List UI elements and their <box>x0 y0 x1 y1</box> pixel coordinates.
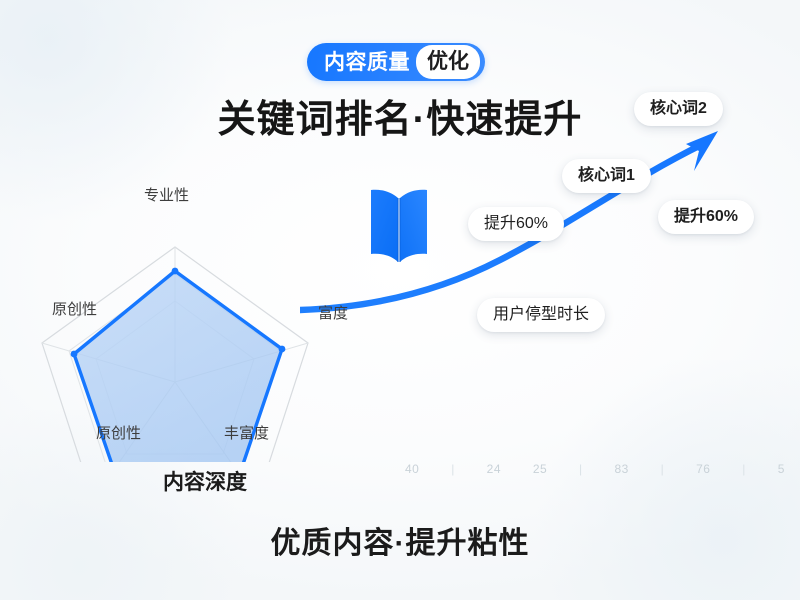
scale-item: 83 <box>614 462 628 476</box>
callout-user-dwell-time[interactable]: 用户停型时长 <box>477 298 605 332</box>
callout-increase-60-left[interactable]: 提升60% <box>468 207 564 241</box>
callout-core-keyword-2[interactable]: 核心词2 <box>634 92 723 126</box>
badge-main-label: 内容质量 <box>324 52 416 73</box>
scale-item: 25 <box>533 462 547 476</box>
scale-item: | <box>451 462 455 476</box>
poster-canvas: 内容质量 优化 关键词排名·快速提升 <box>0 0 800 600</box>
scale-item: | <box>579 462 583 476</box>
scale-item: 24 <box>487 462 501 476</box>
radar-caption: 内容深度 <box>163 466 247 496</box>
open-book-svg <box>368 186 430 268</box>
scale-item: 40 <box>405 462 419 476</box>
radar-axis-label-bottom-left: 原创性 <box>96 422 141 443</box>
faint-axis-scale: 40 | 24 25 | 83 | 76 | 5 <box>405 462 785 476</box>
content-quality-badge[interactable]: 内容质量 优化 <box>307 43 485 81</box>
scale-item: 5 <box>778 462 785 476</box>
radar-chart-svg <box>36 192 376 462</box>
scale-item: 76 <box>696 462 710 476</box>
open-book-icon <box>368 186 430 268</box>
scale-item: | <box>742 462 746 476</box>
radar-axis-label-left: 原创性 <box>52 298 97 319</box>
badge-chip-label: 优化 <box>416 45 480 79</box>
radar-axis-label-bottom-right: 丰富度 <box>224 422 269 443</box>
callout-core-keyword-1[interactable]: 核心词1 <box>562 159 651 193</box>
radar-axis-label-top: 专业性 <box>144 184 189 205</box>
footer-title: 优质内容·提升粘性 <box>0 518 800 562</box>
callout-increase-60-right[interactable]: 提升60% <box>658 200 754 234</box>
radar-axis-label-right: 富度 <box>318 302 348 323</box>
scale-item: | <box>661 462 665 476</box>
radar-chart: 专业性 富度 丰富度 原创性 原创性 <box>36 192 376 462</box>
book-spine <box>397 198 401 262</box>
book-right-page <box>400 190 427 262</box>
background-wash-bottom-right <box>520 360 800 600</box>
